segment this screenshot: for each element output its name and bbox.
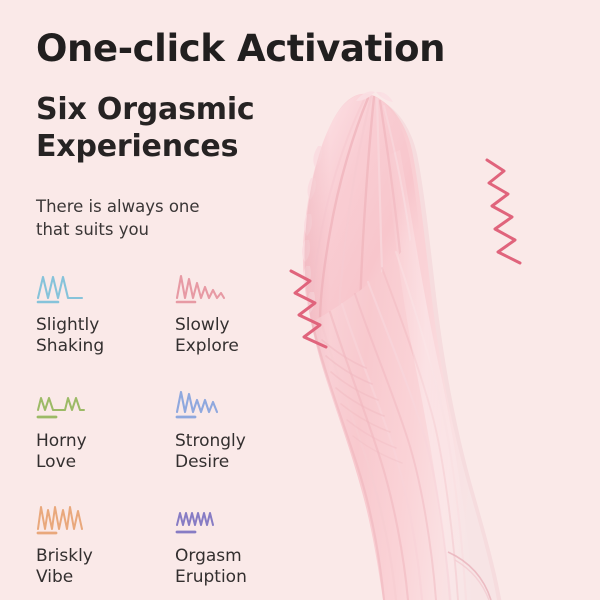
feature-slightly-shaking: Slightly Shaking [36, 268, 175, 358]
row-spacer [36, 473, 286, 499]
feature-label: Slightly Shaking [36, 315, 175, 358]
tagline-line-2: that suits you [36, 218, 200, 241]
row-spacer [36, 358, 286, 384]
tagline: There is always one that suits you [36, 195, 200, 242]
feature-label-line-1: Slowly [175, 315, 286, 336]
feature-label: Briskly Vibe [36, 546, 175, 589]
feature-label: Strongly Desire [175, 431, 286, 474]
feature-label-line-2: Shaking [36, 336, 175, 357]
subheading-line-1: Six Orgasmic [36, 92, 254, 129]
subheading-line-2: Experiences [36, 129, 254, 166]
feature-strongly-desire: Strongly Desire [175, 384, 286, 474]
feature-label-line-2: Love [36, 452, 175, 473]
feature-label-line-1: Briskly [36, 546, 175, 567]
waveform-icon-briskly-vibe [36, 499, 175, 541]
feature-label: Horny Love [36, 431, 175, 474]
feature-row: Horny Love Strongly Desire [36, 384, 286, 474]
feature-orgasm-eruption: Orgasm Eruption [175, 499, 286, 589]
feature-label-line-2: Vibe [36, 567, 175, 588]
feature-label-line-1: Slightly [36, 315, 175, 336]
waveform-icon-slowly-explore [175, 268, 286, 310]
feature-label-line-1: Orgasm [175, 546, 286, 567]
feature-horny-love: Horny Love [36, 384, 175, 474]
waveform-icon-strongly-desire [175, 384, 286, 426]
feature-label: Orgasm Eruption [175, 546, 286, 589]
tagline-line-1: There is always one [36, 195, 200, 218]
feature-row: Briskly Vibe Orgasm Eruption [36, 499, 286, 589]
content-layer: One-click Activation Six Orgasmic Experi… [0, 0, 600, 600]
feature-label-line-2: Eruption [175, 567, 286, 588]
feature-briskly-vibe: Briskly Vibe [36, 499, 175, 589]
feature-label-line-2: Explore [175, 336, 286, 357]
feature-row: Slightly Shaking Slowly Explore [36, 268, 286, 358]
feature-grid: Slightly Shaking Slowly Explore [36, 268, 286, 589]
waveform-icon-horny-love [36, 384, 175, 426]
feature-label: Slowly Explore [175, 315, 286, 358]
subheading: Six Orgasmic Experiences [36, 92, 254, 165]
waveform-icon-orgasm-eruption [175, 499, 286, 541]
promo-canvas: One-click Activation Six Orgasmic Experi… [0, 0, 600, 600]
page-title: One-click Activation [36, 30, 445, 69]
feature-label-line-1: Horny [36, 431, 175, 452]
feature-slowly-explore: Slowly Explore [175, 268, 286, 358]
waveform-icon-slightly-shaking [36, 268, 175, 310]
feature-label-line-1: Strongly [175, 431, 286, 452]
feature-label-line-2: Desire [175, 452, 286, 473]
